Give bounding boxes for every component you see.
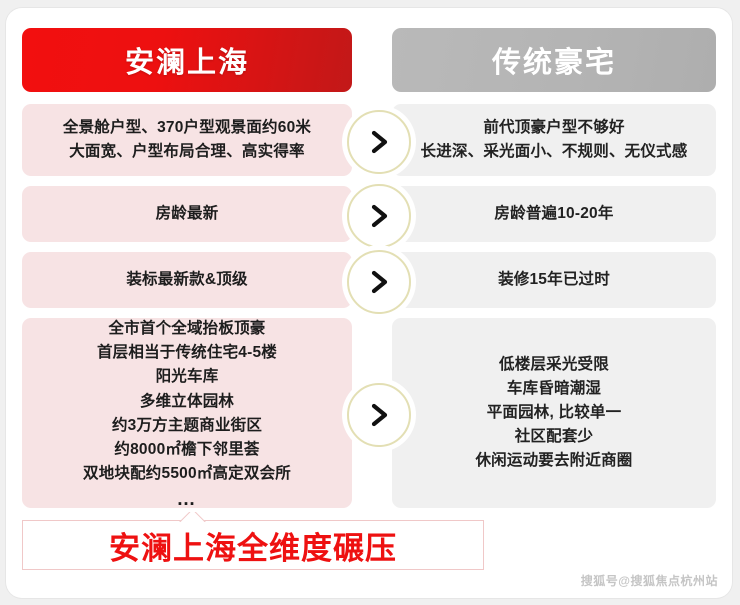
column-headers: 安澜上海 传统豪宅 bbox=[6, 8, 732, 104]
chevron-right-icon bbox=[347, 110, 411, 174]
cell-line: 约8000㎡檐下邻里荟 bbox=[36, 438, 338, 462]
comparison-row: 房龄最新房龄普遍10-20年 bbox=[6, 186, 732, 242]
header-left-brand: 安澜上海 bbox=[22, 28, 352, 92]
chevron-right-icon bbox=[347, 184, 411, 248]
infographic-page: 安澜上海 传统豪宅 全景舱户型、370户型观景面约60米大面宽、户型布局合理、高… bbox=[0, 0, 740, 605]
cell-line: 低楼层采光受限 bbox=[406, 353, 702, 377]
conclusion-banner: 安澜上海全维度碾压 bbox=[22, 512, 484, 570]
comparison-rows: 全景舱户型、370户型观景面约60米大面宽、户型布局合理、高实得率前代顶豪户型不… bbox=[6, 104, 732, 518]
cell-line: 多维立体园林 bbox=[36, 390, 338, 414]
row-cell-left: 装标最新款&顶级 bbox=[22, 252, 352, 308]
row-cell-right: 房龄普遍10-20年 bbox=[392, 186, 716, 242]
row-cell-right: 装修15年已过时 bbox=[392, 252, 716, 308]
cell-line: 房龄普遍10-20年 bbox=[406, 202, 702, 226]
cell-line: 车库昏暗潮湿 bbox=[406, 377, 702, 401]
cell-line: 前代顶豪户型不够好 bbox=[406, 116, 702, 140]
cell-line: 约3万方主题商业街区 bbox=[36, 414, 338, 438]
banner-text: 安澜上海全维度碾压 bbox=[109, 523, 397, 568]
cell-line: 装修15年已过时 bbox=[406, 268, 702, 292]
cell-line: 全景舱户型、370户型观景面约60米 bbox=[36, 116, 338, 140]
chevron-right-icon bbox=[347, 250, 411, 314]
comparison-row: 全景舱户型、370户型观景面约60米大面宽、户型布局合理、高实得率前代顶豪户型不… bbox=[6, 104, 732, 176]
row-cell-right: 低楼层采光受限车库昏暗潮湿平面园林, 比较单一社区配套少休闲运动要去附近商圈 bbox=[392, 318, 716, 508]
row-cell-left: 房龄最新 bbox=[22, 186, 352, 242]
banner-pointer-icon bbox=[164, 512, 220, 522]
comparison-card: 安澜上海 传统豪宅 全景舱户型、370户型观景面约60米大面宽、户型布局合理、高… bbox=[6, 8, 732, 598]
watermark-label: 搜狐号@搜狐焦点杭州站 bbox=[581, 572, 718, 589]
cell-line: … bbox=[36, 486, 338, 509]
comparison-row: 装标最新款&顶级装修15年已过时 bbox=[6, 252, 732, 308]
cell-line: 社区配套少 bbox=[406, 425, 702, 449]
chevron-right-icon bbox=[347, 383, 411, 447]
cell-line: 大面宽、户型布局合理、高实得率 bbox=[36, 140, 338, 164]
cell-line: 长进深、采光面小、不规则、无仪式感 bbox=[406, 140, 702, 164]
cell-line: 全市首个全域抬板顶豪 bbox=[36, 317, 338, 341]
cell-line: 首层相当于传统住宅4-5楼 bbox=[36, 341, 338, 365]
row-cell-left: 全市首个全域抬板顶豪首层相当于传统住宅4-5楼阳光车库多维立体园林约3万方主题商… bbox=[22, 318, 352, 508]
banner-box: 安澜上海全维度碾压 bbox=[22, 520, 484, 570]
row-cell-left: 全景舱户型、370户型观景面约60米大面宽、户型布局合理、高实得率 bbox=[22, 104, 352, 176]
row-cell-right: 前代顶豪户型不够好长进深、采光面小、不规则、无仪式感 bbox=[392, 104, 716, 176]
cell-line: 装标最新款&顶级 bbox=[36, 268, 338, 292]
cell-line: 平面园林, 比较单一 bbox=[406, 401, 702, 425]
cell-line: 房龄最新 bbox=[36, 202, 338, 226]
header-right-traditional: 传统豪宅 bbox=[392, 28, 716, 92]
cell-line: 休闲运动要去附近商圈 bbox=[406, 449, 702, 473]
cell-line: 双地块配约5500㎡高定双会所 bbox=[36, 462, 338, 486]
comparison-row: 全市首个全域抬板顶豪首层相当于传统住宅4-5楼阳光车库多维立体园林约3万方主题商… bbox=[6, 318, 732, 508]
cell-line: 阳光车库 bbox=[36, 365, 338, 389]
